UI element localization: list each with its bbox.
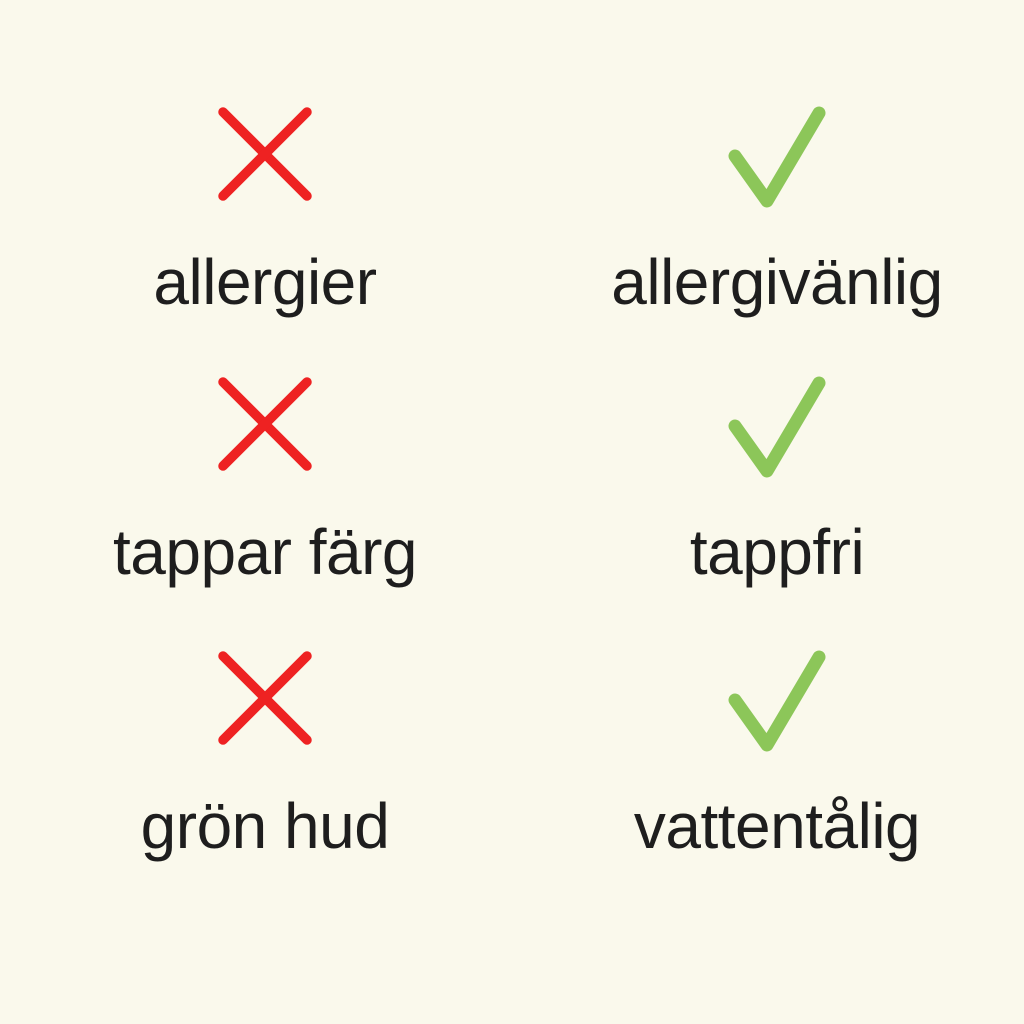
check-icon	[727, 648, 827, 760]
cross-icon	[215, 648, 315, 748]
comparison-label: tappfri	[690, 520, 864, 584]
check-icon	[727, 104, 827, 216]
comparison-label: allergier	[153, 250, 376, 314]
comparison-board: allergier allergivänlig tappar färg	[0, 0, 1024, 1024]
comparison-label: vattentålig	[634, 794, 920, 858]
comparison-label: tappar färg	[113, 520, 417, 584]
comparison-item-negative-1: allergier	[0, 104, 530, 314]
comparison-item-positive-3: vattentålig	[530, 648, 1024, 858]
comparison-item-positive-2: tappfri	[530, 374, 1024, 584]
comparison-item-positive-1: allergivänlig	[530, 104, 1024, 314]
cross-icon	[215, 374, 315, 474]
cross-icon	[215, 104, 315, 204]
comparison-label: allergivänlig	[611, 250, 942, 314]
comparison-item-negative-2: tappar färg	[0, 374, 530, 584]
comparison-item-negative-3: grön hud	[0, 648, 530, 858]
check-icon	[727, 374, 827, 486]
comparison-label: grön hud	[141, 794, 390, 858]
